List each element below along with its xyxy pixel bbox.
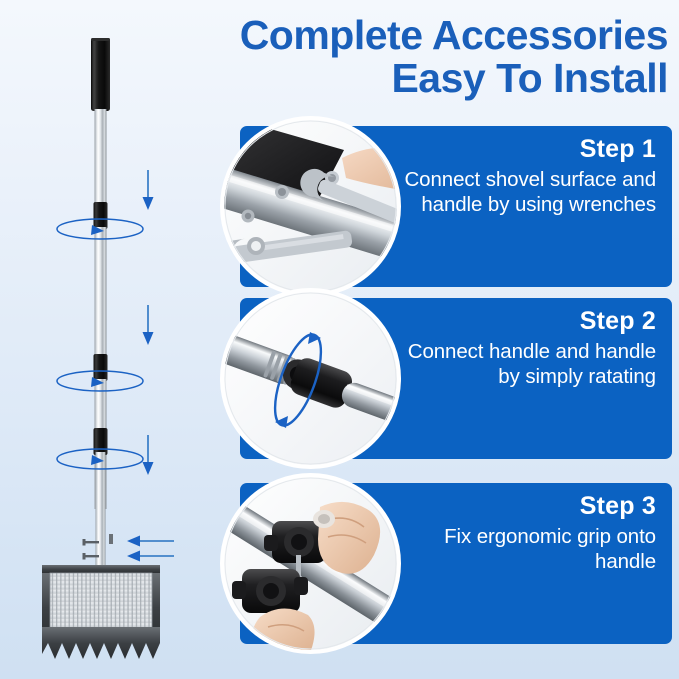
- foam-grip-top: [91, 38, 110, 111]
- page-title: Complete Accessories Easy To Install: [186, 14, 668, 101]
- step-2-text: Step 2 Connect handle and handle by simp…: [388, 307, 656, 389]
- push-arrowhead-3: [143, 462, 154, 475]
- title-line-1: Complete Accessories: [186, 14, 668, 57]
- product-illustration: [14, 22, 224, 672]
- mid-joint-collar: [94, 202, 108, 229]
- step-3-text: Step 3 Fix ergonomic grip onto handle: [388, 492, 656, 574]
- step-1-text: Step 1 Connect shovel surface and handle…: [388, 135, 656, 217]
- step-panel-3: Step 3 Fix ergonomic grip onto handle: [240, 483, 672, 644]
- bolt-arrowhead-1: [127, 536, 140, 547]
- step-2-title: Step 2: [388, 307, 656, 337]
- push-arrowhead-1: [143, 197, 154, 210]
- step-panel-2: Step 2 Connect handle and handle by simp…: [240, 298, 672, 459]
- step-3-title: Step 3: [388, 492, 656, 522]
- infographic-canvas: Complete Accessories Easy To Install: [0, 0, 679, 679]
- bolt-arrowhead-2: [127, 551, 140, 562]
- mesh-shovel-blade: [42, 565, 160, 659]
- upper-pole-section: [95, 109, 107, 205]
- step-2-description: Connect handle and handle by simply rata…: [388, 339, 656, 389]
- step-1-description: Connect shovel surface and handle by usi…: [388, 167, 656, 217]
- step-panel-1: Step 1 Connect shovel surface and handle…: [240, 126, 672, 287]
- middle-pole-section: [95, 227, 107, 357]
- serrated-blade-edge: [42, 627, 160, 659]
- step-3-photo: [220, 473, 401, 654]
- bottom-joint-collar: [94, 428, 108, 455]
- lower-joint-collar: [94, 354, 108, 381]
- title-line-2: Easy To Install: [186, 57, 668, 100]
- step-2-photo: [220, 288, 401, 469]
- step-1-title: Step 1: [388, 135, 656, 165]
- push-arrowhead-2: [143, 332, 154, 345]
- step-3-description: Fix ergonomic grip onto handle: [388, 524, 656, 574]
- step-1-photo: [220, 116, 401, 297]
